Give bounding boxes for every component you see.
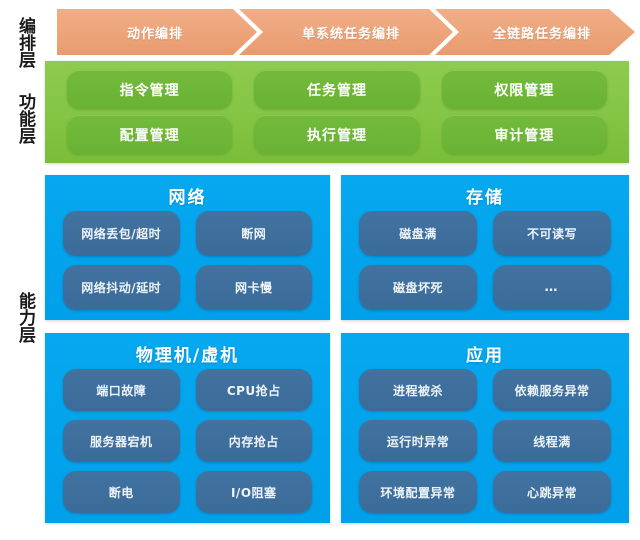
machine-item-server-down[interactable]: 服务器宕机 [63,420,180,462]
machine-item-port-failure[interactable]: 端口故障 [63,369,180,411]
network-item-slow-nic[interactable]: 网卡慢 [196,265,313,310]
function-layer-grid: 指令管理 任务管理 权限管理 配置管理 执行管理 审计管理 [45,61,629,163]
network-item-disconnect[interactable]: 断网 [196,211,313,256]
function-item-config-management[interactable]: 配置管理 [67,115,232,154]
function-item-audit-management[interactable]: 审计管理 [442,115,607,154]
panel-title-storage: 存储 [341,183,629,208]
storage-item-disk-corruption[interactable]: 磁盘坏死 [359,265,477,310]
capability-panel-storage: 存储 磁盘满 不可读写 磁盘坏死 … [341,175,629,320]
function-item-command-management[interactable]: 指令管理 [67,70,232,109]
network-item-packet-loss[interactable]: 网络丢包/超时 [63,211,180,256]
storage-item-disk-full[interactable]: 磁盘满 [359,211,477,256]
storage-item-more[interactable]: … [493,265,611,310]
application-pill-grid: 进程被杀 依赖服务异常 运行时异常 线程满 环境配置异常 心跳异常 [341,369,629,513]
machine-item-cpu-contention[interactable]: CPU抢占 [196,369,313,411]
function-item-permission-management[interactable]: 权限管理 [442,70,607,109]
application-item-dependency-service-abnormal[interactable]: 依赖服务异常 [493,369,611,411]
architecture-diagram: 编排层 功能层 能力层 动作编排 单系统任务编排 全链路任务编排 指令管 [0,0,640,540]
banner-segment-full-chain[interactable]: 全链路任务编排 [449,9,635,55]
layer-label-function: 功能层 [6,79,36,157]
machine-item-memory-contention[interactable]: 内存抢占 [196,420,313,462]
machine-item-io-blocking[interactable]: I/O阻塞 [196,471,313,513]
function-item-task-management[interactable]: 任务管理 [254,70,419,109]
function-layer-panel: 指令管理 任务管理 权限管理 配置管理 执行管理 审计管理 [45,61,629,163]
application-item-thread-pool-full[interactable]: 线程满 [493,420,611,462]
storage-item-read-write-failure[interactable]: 不可读写 [493,211,611,256]
network-item-jitter-latency[interactable]: 网络抖动/延时 [63,265,180,310]
storage-pill-grid: 磁盘满 不可读写 磁盘坏死 … [341,211,629,310]
capability-panel-application: 应用 进程被杀 依赖服务异常 运行时异常 线程满 环境配置异常 心跳异常 [341,333,629,523]
panel-title-machine: 物理机/虚机 [45,341,330,366]
application-item-heartbeat-abnormal[interactable]: 心跳异常 [493,471,611,513]
application-item-process-killed[interactable]: 进程被杀 [359,369,477,411]
capability-panel-network: 网络 网络丢包/超时 断网 网络抖动/延时 网卡慢 [45,175,330,320]
layer-label-orchestration: 编排层 [6,9,36,75]
machine-pill-grid: 端口故障 CPU抢占 服务器宕机 内存抢占 断电 I/O阻塞 [45,369,330,513]
application-item-runtime-exception[interactable]: 运行时异常 [359,420,477,462]
machine-item-power-outage[interactable]: 断电 [63,471,180,513]
function-item-execution-management[interactable]: 执行管理 [254,115,419,154]
capability-panel-machine: 物理机/虚机 端口故障 CPU抢占 服务器宕机 内存抢占 断电 I/O阻塞 [45,333,330,523]
orchestration-banner: 动作编排 单系统任务编排 全链路任务编排 [57,9,635,55]
panel-title-network: 网络 [45,183,330,208]
layer-label-capability: 能力层 [6,286,36,348]
banner-segment-action[interactable]: 动作编排 [57,9,253,55]
panel-title-application: 应用 [341,341,629,366]
network-pill-grid: 网络丢包/超时 断网 网络抖动/延时 网卡慢 [45,211,330,310]
banner-segment-single-system[interactable]: 单系统任务编排 [253,9,449,55]
application-item-env-config-abnormal[interactable]: 环境配置异常 [359,471,477,513]
